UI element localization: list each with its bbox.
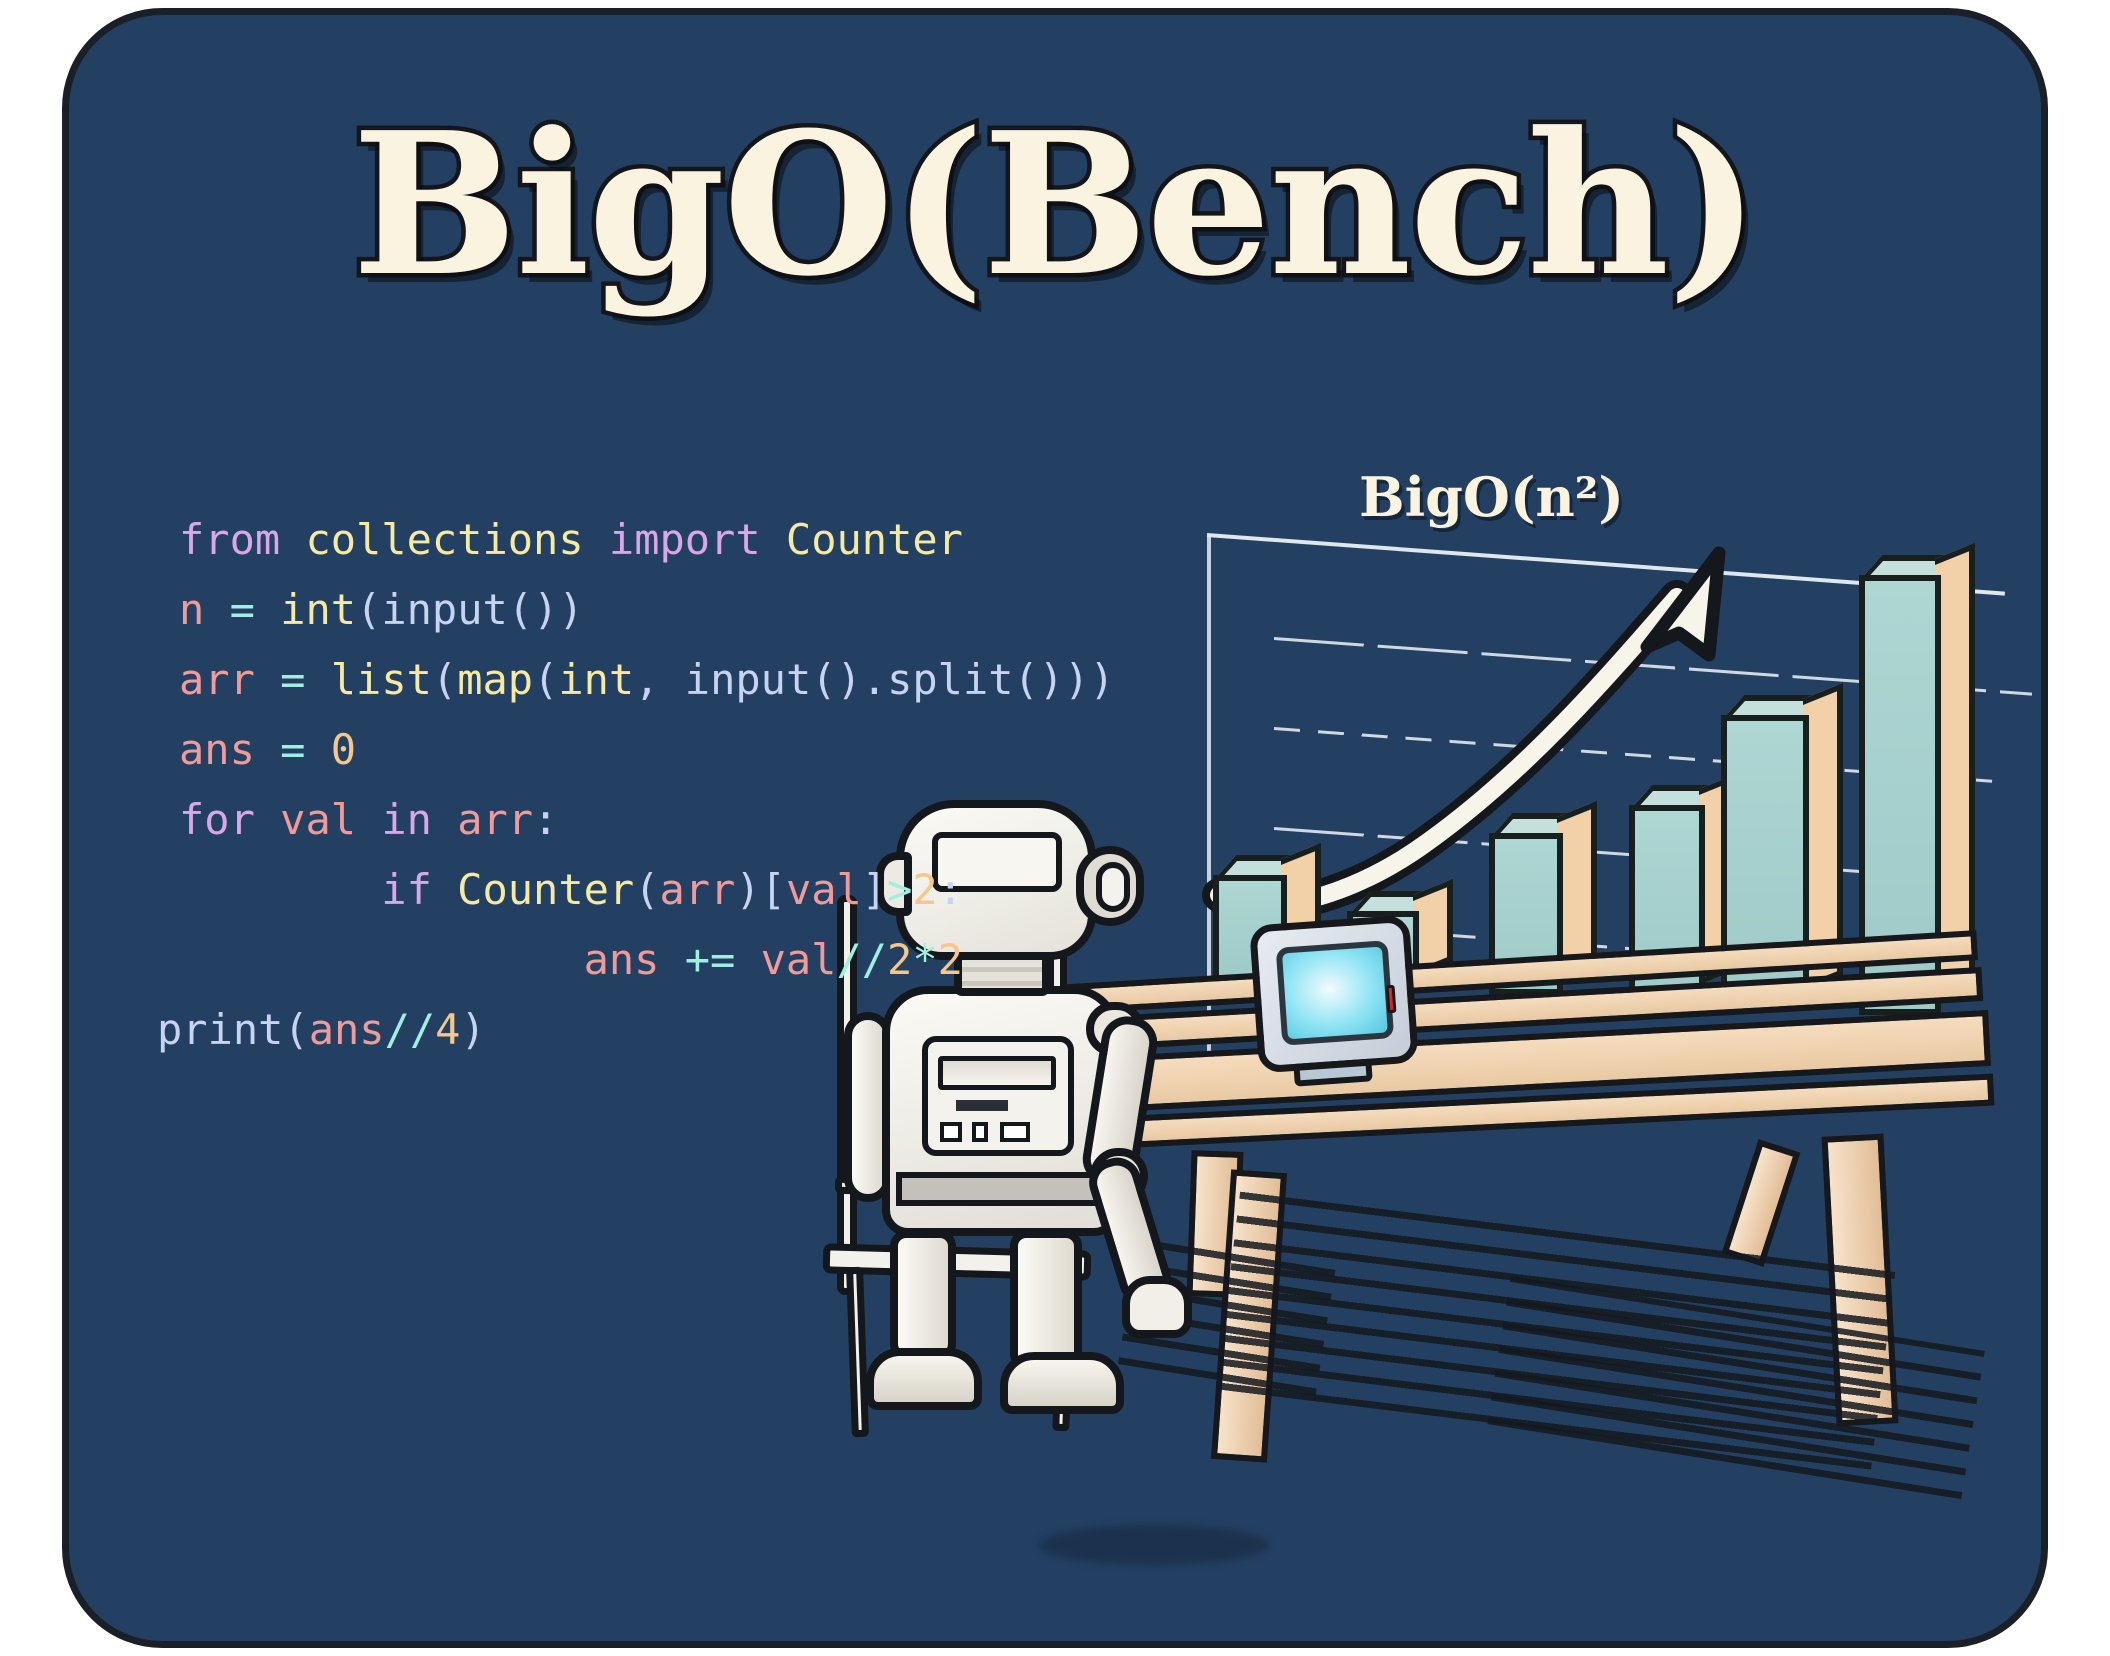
code-token: 4 [435,1005,460,1054]
code-token: = [280,655,305,704]
code-token: n [179,585,204,634]
code-token: arr [659,865,735,914]
floor-shadow [1039,1525,1269,1565]
code-token [204,585,229,634]
code-token: , [634,655,685,704]
code-token: : [533,795,558,844]
code-token: * [912,935,937,984]
code-token [305,725,330,774]
code-token [432,865,457,914]
code-token [659,935,684,984]
code-line: n = int(input()) [179,575,1115,645]
code-token [255,585,280,634]
code-token: input().split())) [685,655,1115,704]
code-token: from [179,515,280,564]
robot-hand-right [1122,1276,1192,1338]
code-token: ) [735,865,760,914]
code-token: ans [309,1005,385,1054]
code-token: 2 [938,935,963,984]
code-token: ans [179,725,255,774]
code-block: from collections import Countern = int(i… [179,505,1115,1065]
power-led-icon [1386,985,1397,1014]
code-token: ( [634,865,659,914]
code-token: += [685,935,736,984]
code-token: Counter [457,865,634,914]
code-token [305,655,330,704]
code-token: > [887,865,912,914]
code-line: from collections import Counter [179,505,1115,575]
code-token: in [381,795,432,844]
code-token [255,655,280,704]
code-token: ) [460,1005,485,1054]
code-token: Counter [786,515,963,564]
code-token [584,515,609,564]
code-token: map [457,655,533,704]
code-token: // [836,935,887,984]
robot-leg-right [1010,1230,1082,1370]
code-token: 2 [887,935,912,984]
code-line: for val in arr: [179,785,1115,855]
code-token: int [558,655,634,704]
poster-card: BigO(Bench) BigO(n²) [62,8,2048,1648]
crt-monitor [1254,920,1434,1110]
code-token: arr [179,655,255,704]
code-token: import [609,515,761,564]
code-token: // [385,1005,436,1054]
code-token: list [331,655,432,704]
code-token: = [280,725,305,774]
monitor-screen [1276,940,1395,1046]
robot-indicator-2-icon [972,1122,988,1142]
code-token [761,515,786,564]
code-token [356,795,381,844]
code-token: val [280,795,356,844]
code-line: ans += val//2*2 [179,925,1115,995]
code-token: ( [283,1005,308,1054]
page-title: BigO(Bench) [69,107,2041,303]
code-token: 0 [331,725,356,774]
code-token: if [381,865,432,914]
code-token: ( [432,655,457,704]
robot-panel-bar [956,1100,1008,1111]
code-token: val [761,935,837,984]
code-token: ] [862,865,887,914]
code-token: : [938,865,963,914]
code-token [735,935,760,984]
robot-indicator-1-icon [940,1122,962,1142]
code-token [432,795,457,844]
code-token: val [786,865,862,914]
code-line: ans = 0 [179,715,1115,785]
code-line: if Counter(arr)[val]>2: [179,855,1115,925]
code-token: print [157,1005,283,1054]
code-token: ans [584,935,660,984]
code-token: ( [533,655,558,704]
robot-waist-band [896,1172,1102,1206]
code-line: arr = list(map(int, input().split())) [179,645,1115,715]
code-token: collections [305,515,583,564]
code-token: input [381,585,507,634]
code-token: [ [761,865,786,914]
robot-indicator-3-icon [1000,1122,1030,1142]
code-token: 2 [912,865,937,914]
robot-foot-left [866,1348,982,1410]
monitor-body [1249,915,1419,1074]
code-token [255,725,280,774]
code-token [280,515,305,564]
code-token: ( [356,585,381,634]
code-token: ()) [508,585,584,634]
code-token: for [179,795,255,844]
code-token: int [280,585,356,634]
code-token [255,795,280,844]
robot-foot-right [1000,1352,1124,1414]
code-token: arr [457,795,533,844]
code-token: = [230,585,255,634]
robot-leg-left [890,1230,956,1360]
chart-annotation: BigO(n²) [1359,465,1624,529]
code-line: print(ans//4) [157,995,1115,1065]
